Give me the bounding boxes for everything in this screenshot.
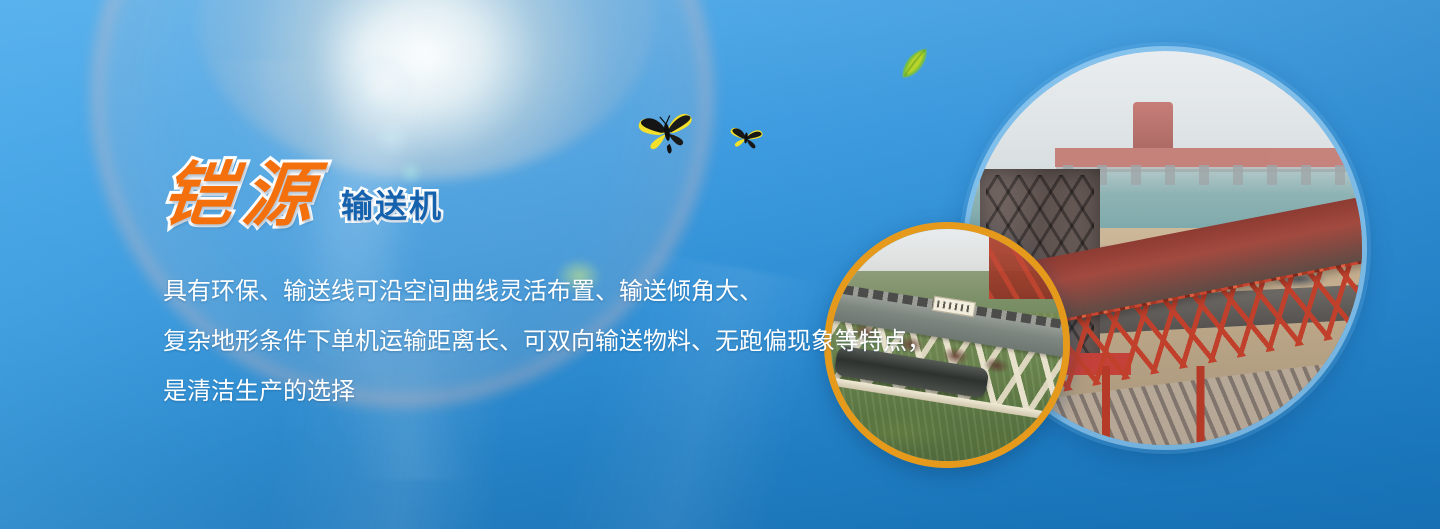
description-line-3: 是清洁生产的选择 xyxy=(163,366,863,416)
description-line-2: 复杂地形条件下单机运输距离长、可双向输送物料、无跑偏现象等特点， xyxy=(163,316,863,366)
brand-name: 铠源 xyxy=(159,160,326,230)
description-line-1: 具有环保、输送线可沿空间曲线灵活布置、输送倾角大、 xyxy=(163,266,863,316)
leaf-icon xyxy=(893,44,938,83)
banner-copy: 铠源 输送机 具有环保、输送线可沿空间曲线灵活布置、输送倾角大、 复杂地形条件下… xyxy=(163,138,863,416)
photo-far-piers xyxy=(1063,165,1367,185)
product-banner: 铠源 输送机 具有环保、输送线可沿空间曲线灵活布置、输送倾角大、 复杂地形条件下… xyxy=(0,0,1440,529)
photo-red-bridge-sliver xyxy=(989,222,1068,299)
photo-far-jetty xyxy=(1055,148,1367,168)
brand-subtitle: 输送机 xyxy=(341,190,443,222)
photo-far-crane xyxy=(1133,102,1173,148)
banner-description: 具有环保、输送线可沿空间曲线灵活布置、输送倾角大、 复杂地形条件下单机运输距离长… xyxy=(163,266,863,416)
brand-title-row: 铠源 输送机 xyxy=(163,138,863,230)
lens-flare-icon xyxy=(352,56,412,116)
